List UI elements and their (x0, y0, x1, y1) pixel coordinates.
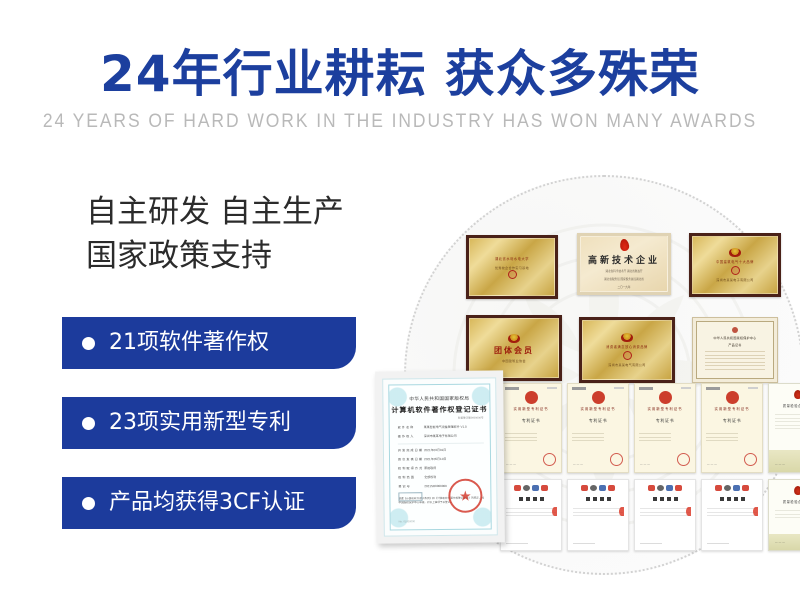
promo-banner-page: 24年行业耕耘 获众多殊荣 24 YEARS OF HARD WORK IN T… (0, 0, 800, 592)
page-title: 24年行业耕耘 获众多殊荣 (0, 44, 800, 104)
plaque-top-text: 湖北省水利水电大学 (495, 256, 529, 261)
red-star-seal-icon: ★ (448, 479, 482, 513)
patent-certificate: 实用新型专利证书 专利证书 ——— (567, 383, 629, 473)
plaque-water-conservancy: 湖北省水利水电大学 优秀校企合作实习基地 (466, 235, 558, 299)
feature-banner-3cf-certified[interactable]: 产品均获得3CF认证 (62, 477, 356, 529)
field-label: 登记号 (398, 484, 424, 488)
feature-banner-label: 23项实用新型专利 (109, 410, 291, 436)
sunburst-emblem-icon (508, 334, 520, 343)
field-label: 权利取得方式 (398, 466, 424, 470)
plaque-sub-text: 中国建筑业协会 (502, 359, 526, 363)
patent-cert-title: 专利证书 (501, 418, 561, 424)
product-test-certificate (634, 479, 696, 551)
plaque-top-text: 中国建筑电气十大品牌 (716, 259, 754, 264)
national-emblem-icon (621, 333, 633, 342)
ribbon-seal-icon (552, 507, 557, 516)
plaque-top-text: 消费者满意放心消费品牌 (606, 344, 648, 349)
plaque-quality-brand: 消费者满意放心消费品牌 深圳市某某电气有限公司 (579, 317, 675, 383)
software-cert-issuer: 中华人民共和国国家版权局 (383, 395, 495, 402)
seal-icon (732, 327, 738, 333)
patent-seal-ring-icon (543, 453, 556, 466)
patent-cert-header: 实用新型专利证书 (501, 406, 561, 411)
paper-cert-subtitle: 产品证书 (728, 343, 741, 347)
feature-banner-list: 21项软件著作权 23项实用新型专利 产品均获得3CF认证 (62, 317, 356, 557)
red-round-seal-icon (659, 391, 672, 404)
flame-icon (619, 238, 630, 251)
feature-banner-label: 产品均获得3CF认证 (109, 490, 305, 516)
patent-certificate: 实用新型专利证书 专利证书 ——— (701, 383, 763, 473)
award-cert-band (769, 450, 800, 472)
page-header: 24年行业耕耘 获众多殊荣 24 YEARS OF HARD WORK IN T… (0, 44, 800, 134)
plaque-footer-2: 湖北省税务局 国家税务总局湖北省 (604, 278, 644, 282)
certificate-property-rights: 中华人民共和国版权保护中心 产品证书 (692, 317, 778, 383)
patent-seal-ring-icon (610, 453, 623, 466)
field-label: 首次发表日期 (398, 457, 424, 461)
product-test-certificate (500, 479, 562, 551)
feature-banner-software-copyright[interactable]: 21项软件著作权 (62, 317, 356, 369)
award-certificate: 质量检验合格证书 ——— (768, 479, 800, 551)
software-copyright-certificate: 中华人民共和国国家版权局 计算机软件著作权登记证书 软著登字第0000000号 … (375, 370, 505, 543)
patent-seal-ring-icon (677, 453, 690, 466)
field-label: 开发完成日期 (398, 448, 424, 452)
patent-cert-title: 专利证书 (568, 418, 628, 424)
plaque-main-text: 团体会员 (494, 345, 534, 356)
software-cert-number: 软著登字第0000000号 (458, 416, 484, 420)
patent-cert-signature: ——— (506, 463, 517, 466)
bullet-dot-icon (82, 337, 95, 350)
lead-paragraph: 自主研发 自主生产 国家政策支持 (86, 190, 416, 278)
bullet-dot-icon (82, 417, 95, 430)
patent-cert-signature: ——— (573, 463, 584, 466)
patent-certificate: 实用新型专利证书 专利证书 ——— (634, 383, 696, 473)
ribbon-seal-icon (619, 507, 624, 516)
plaque-seal-icon (508, 270, 517, 279)
field-label: 软件名称 (398, 425, 424, 429)
plaque-main-text: 高新技术企业 (588, 253, 660, 266)
field-value: 原始取得 (424, 466, 436, 470)
award-cert-title: 质量检验合格证书 (769, 499, 800, 504)
flame-icon (793, 485, 800, 495)
patent-cert-title: 专利证书 (635, 418, 695, 424)
field-value: 某某智能电气设备管理软件 V1.0 (424, 425, 467, 429)
patent-cert-signature: ——— (640, 463, 651, 466)
certificates-collage: 湖北省水利水电大学 优秀校企合作实习基地 高新技术企业 湖北省科学技术厅 湖北省… (404, 175, 800, 592)
paper-cert-title: 中华人民共和国版权保护中心 (714, 336, 757, 340)
software-cert-footer: No. 01000000 (399, 520, 415, 523)
patent-cert-header: 实用新型专利证书 (568, 406, 628, 411)
flame-icon (793, 389, 800, 399)
plaque-sub-text: 深圳市某某电子有限公司 (716, 278, 753, 282)
award-cert-title: 质量检验合格证书 (769, 403, 800, 408)
ribbon-seal-icon (753, 507, 758, 516)
lead-line-2: 国家政策支持 (86, 234, 416, 278)
award-certificate: 质量检验合格证书 ——— (768, 383, 800, 473)
lead-line-1: 自主研发 自主生产 (86, 190, 416, 234)
field-value: 2021年05月10日 (424, 457, 446, 461)
award-cert-signature: ——— (775, 463, 786, 466)
plaque-footer-1: 湖北省科学技术厅 湖北省财政厅 (605, 270, 642, 274)
plaque-top-ten-brand: 中国建筑电气十大品牌 深圳市某某电子有限公司 (689, 233, 781, 297)
patent-certificate: 实用新型专利证书 专利证书 ——— (500, 383, 562, 473)
ribbon-seal-icon (686, 507, 691, 516)
page-subtitle: 24 YEARS OF HARD WORK IN THE INDUSTRY HA… (32, 110, 768, 134)
red-round-seal-icon (525, 391, 538, 404)
patent-seal-ring-icon (744, 453, 757, 466)
software-cert-stamp-box (398, 492, 422, 501)
plaque-high-tech-enterprise: 高新技术企业 湖北省科学技术厅 湖北省财政厅 湖北省税务局 国家税务总局湖北省 … (577, 233, 671, 295)
patent-cert-signature: ——— (707, 463, 718, 466)
paper-cert-body (705, 351, 764, 372)
field-value: 2021年03月01日 (424, 448, 446, 452)
feature-banner-label: 21项软件著作权 (109, 330, 269, 356)
red-round-seal-icon (726, 391, 739, 404)
award-cert-signature: ——— (775, 541, 786, 544)
plaque-footer-3: 二〇一九年 (618, 286, 631, 290)
patent-cert-header: 实用新型专利证书 (702, 406, 762, 411)
product-test-certificate (567, 479, 629, 551)
field-label: 著作权人 (398, 434, 424, 438)
software-cert-title: 计算机软件著作权登记证书 (383, 404, 495, 415)
field-value: 全部权利 (424, 475, 436, 479)
red-round-seal-icon (592, 391, 605, 404)
field-value: 深圳市某某电子有限公司 (424, 434, 457, 438)
bullet-dot-icon (82, 497, 95, 510)
national-emblem-icon (729, 248, 741, 257)
product-test-certificate (701, 479, 763, 551)
patent-cert-title: 专利证书 (702, 418, 762, 424)
patent-cert-header: 实用新型专利证书 (635, 406, 695, 411)
plaque-seal-icon (623, 351, 632, 360)
feature-banner-utility-patent[interactable]: 23项实用新型专利 (62, 397, 356, 449)
field-label: 权利范围 (398, 475, 424, 479)
plaque-main-text: 优秀校企合作实习基地 (495, 266, 529, 270)
field-value: 2021SR0000000 (424, 484, 447, 488)
plaque-sub-text: 深圳市某某电气有限公司 (608, 363, 645, 367)
plaque-seal-icon (731, 266, 740, 275)
